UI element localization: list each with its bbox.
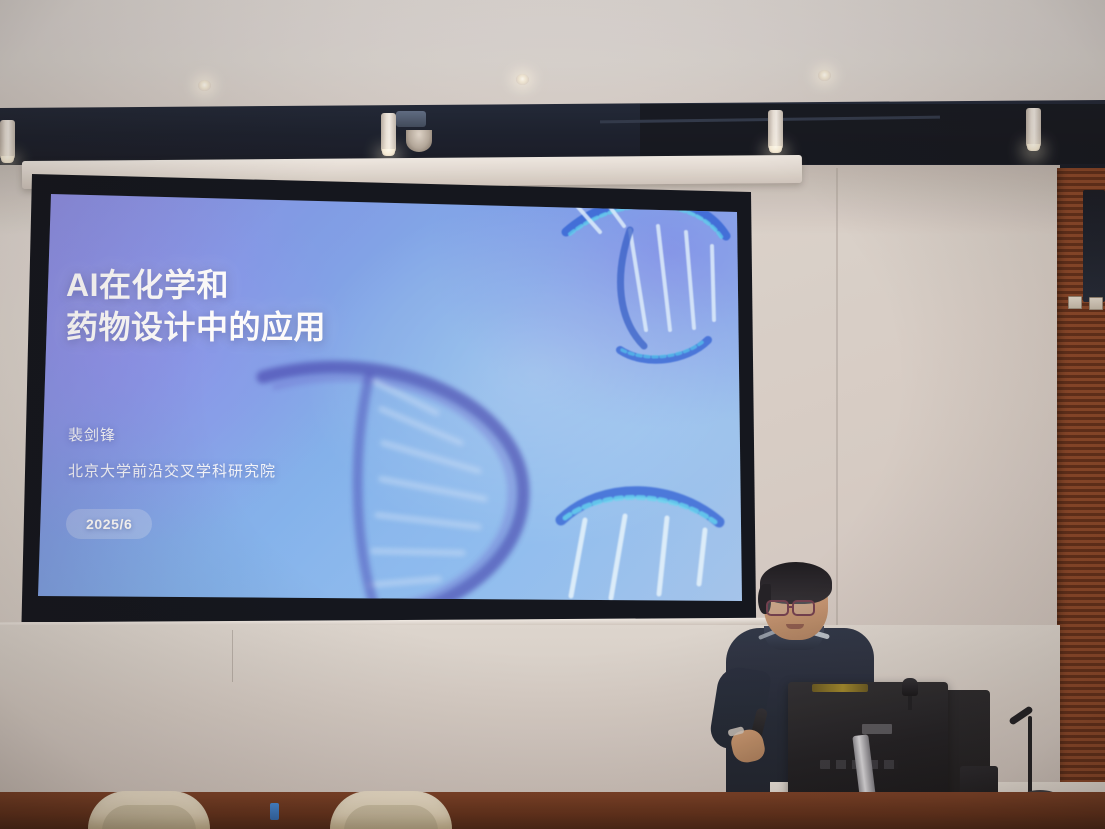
track-spotlight bbox=[381, 113, 396, 153]
ceiling-downlight bbox=[516, 74, 529, 85]
slide-affiliation: 北京大学前沿交叉学科研究院 bbox=[68, 460, 276, 481]
slide-title-line-1: AI在化学和 bbox=[66, 264, 486, 306]
ceiling bbox=[0, 0, 1105, 112]
track-spotlight bbox=[0, 120, 15, 160]
small-blue-object bbox=[270, 803, 279, 820]
monitor-top-strip bbox=[812, 684, 868, 692]
gooseneck-microphone-stem bbox=[1028, 716, 1032, 794]
podium-camera[interactable] bbox=[902, 678, 918, 696]
track-spotlight bbox=[1026, 108, 1041, 148]
lecture-hall-scene: AI在化学和 药物设计中的应用 裴剑锋 北京大学前沿交叉学科研究院 2025/6 bbox=[0, 0, 1105, 829]
chair-seat-shadow bbox=[344, 805, 438, 829]
wall-outlet-plate[interactable] bbox=[1068, 296, 1082, 309]
glasses-left-lens bbox=[766, 600, 789, 616]
dna-helix-large-icon bbox=[223, 347, 553, 622]
wall-outlet-plate[interactable] bbox=[1089, 297, 1103, 310]
ceiling-dome-speaker bbox=[406, 130, 432, 152]
projection-screen-surface: AI在化学和 药物设计中的应用 裴剑锋 北京大学前沿交叉学科研究院 2025/6 bbox=[18, 172, 758, 622]
glasses-right-lens bbox=[792, 600, 815, 616]
chair-seat-shadow bbox=[102, 805, 196, 829]
slide-title-line-2: 药物设计中的应用 bbox=[66, 306, 486, 348]
audience-chair bbox=[330, 791, 452, 829]
slide-title: AI在化学和 药物设计中的应用 bbox=[66, 264, 486, 348]
ceiling-downlight bbox=[198, 80, 211, 91]
presentation-slide: AI在化学和 药物设计中的应用 裴剑锋 北京大学前沿交叉学科研究院 2025/6 bbox=[18, 172, 758, 622]
monitor-brand-label bbox=[862, 724, 892, 734]
slide-presenter-name: 裴剑锋 bbox=[68, 424, 116, 445]
projector-mount bbox=[396, 111, 426, 127]
audience-chair bbox=[88, 791, 210, 829]
wall-mounted-device bbox=[1083, 190, 1105, 302]
dna-helix-top-right-icon bbox=[548, 180, 738, 395]
slide-date-badge: 2025/6 bbox=[66, 509, 152, 539]
ceiling-downlight bbox=[818, 70, 831, 81]
track-spotlight bbox=[768, 110, 783, 150]
glasses-bridge bbox=[788, 606, 794, 608]
wall-crack bbox=[232, 630, 233, 682]
presenter-mouth bbox=[786, 624, 804, 629]
